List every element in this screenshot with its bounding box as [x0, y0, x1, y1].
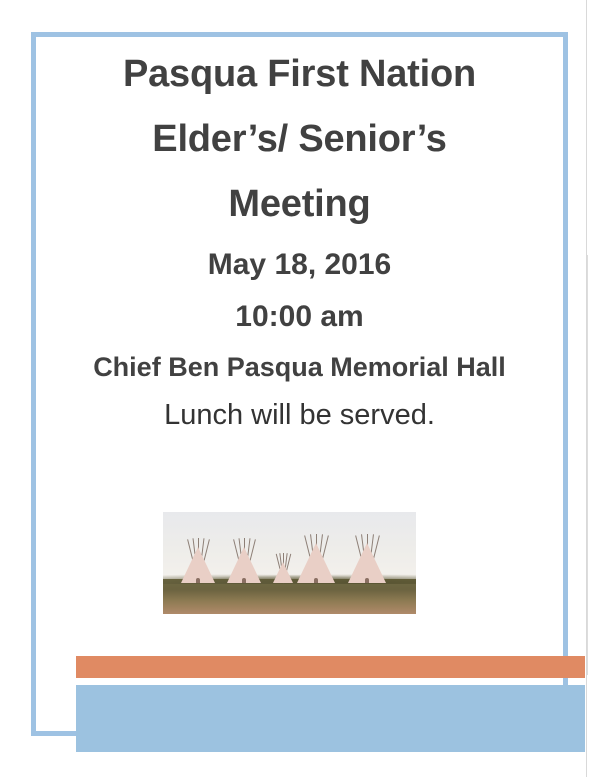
teepee-photograph [163, 512, 416, 614]
poster-date: May 18, 2016 [44, 250, 555, 280]
teepee-door [242, 578, 246, 583]
teepee-door [196, 578, 200, 583]
poster-venue: Chief Ben Pasqua Memorial Hall [44, 354, 555, 381]
poster-border-frame: Pasqua First Nation Elder’s/ Senior’s Me… [31, 32, 568, 736]
teepee-3 [273, 562, 293, 583]
teepee-4 [297, 543, 335, 583]
decorative-blue-bar [76, 685, 585, 752]
teepee-5 [348, 543, 386, 583]
teepee-1 [181, 547, 215, 583]
poster-title-line-1: Pasqua First Nation [44, 55, 555, 93]
teepee-door [314, 578, 318, 583]
scanned-page: Pasqua First Nation Elder’s/ Senior’s Me… [0, 0, 600, 777]
poster-note: Lunch will be served. [44, 401, 555, 430]
teepee-door [365, 578, 369, 583]
scanner-seam-line-secondary [587, 255, 588, 675]
poster-title-line-3: Meeting [44, 185, 555, 223]
teepee-2 [227, 547, 261, 583]
poster-time: 10:00 am [44, 302, 555, 332]
teepee-cover [273, 562, 293, 583]
teepee-cover [348, 543, 386, 583]
decorative-orange-bar [76, 656, 585, 678]
poster-text-block: Pasqua First Nation Elder’s/ Senior’s Me… [44, 55, 555, 430]
teepee-cover [297, 543, 335, 583]
poster-title-line-2: Elder’s/ Senior’s [44, 120, 555, 158]
photo-prairie-ground [163, 579, 416, 614]
